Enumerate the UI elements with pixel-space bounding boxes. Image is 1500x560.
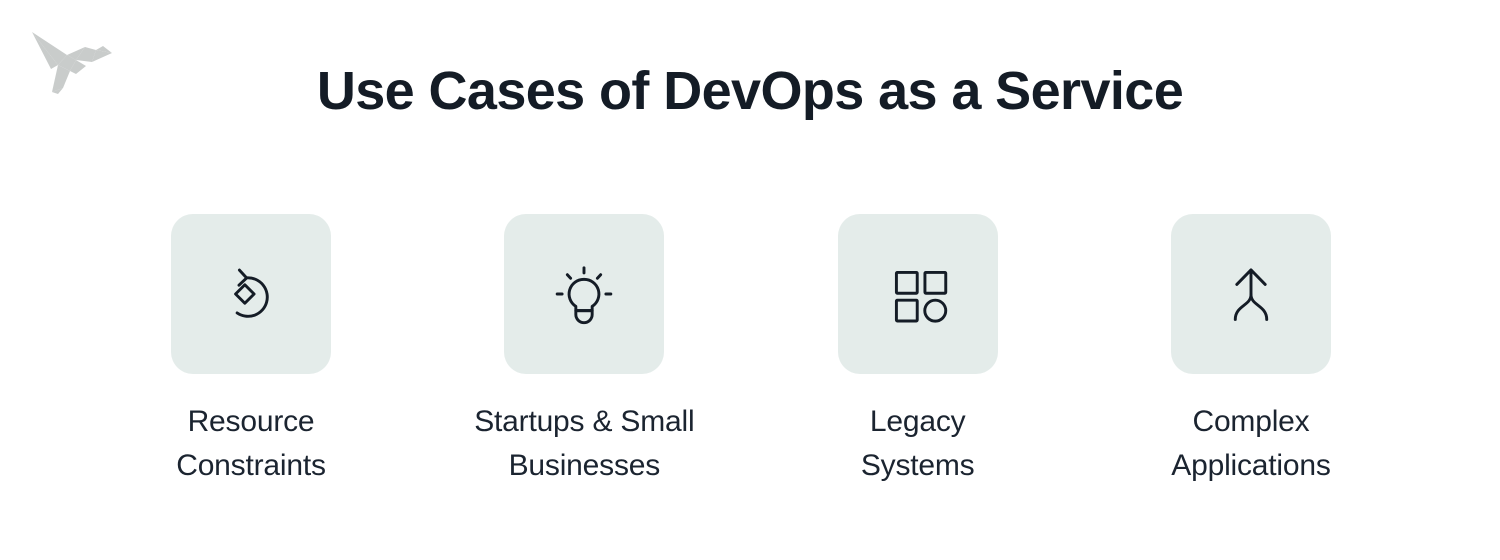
icon-tile (1171, 214, 1331, 374)
label-line-1: Startups & Small (474, 405, 694, 438)
lightbulb-idea-icon (547, 257, 621, 331)
use-case-label: Complex Applications (1086, 400, 1416, 488)
use-case-card-startups-small-businesses[interactable]: Startups & Small Businesses (494, 214, 674, 488)
merge-arrow-icon (1214, 257, 1288, 331)
label-line-1: Legacy (870, 405, 966, 438)
use-case-card-resource-constraints[interactable]: Resource Constraints (161, 214, 341, 488)
icon-tile (504, 214, 664, 374)
icon-tile (171, 214, 331, 374)
label-line-2: Systems (861, 449, 975, 482)
label-line-1: Resource (188, 405, 315, 438)
rotate-diamond-icon (214, 257, 288, 331)
label-line-1: Complex (1192, 405, 1309, 438)
use-case-label: Startups & Small Businesses (419, 400, 749, 488)
icon-tile (838, 214, 998, 374)
use-case-label: Legacy Systems (778, 400, 1058, 488)
use-case-label: Resource Constraints (111, 400, 391, 488)
slide-canvas: Use Cases of DevOps as a Service Resourc… (0, 0, 1500, 560)
use-case-card-complex-applications[interactable]: Complex Applications (1161, 214, 1341, 488)
label-line-2: Businesses (509, 449, 660, 482)
label-line-2: Applications (1171, 449, 1330, 482)
use-case-card-legacy-systems[interactable]: Legacy Systems (828, 214, 1008, 488)
use-cases-row: Resource Constraints Startups & Small (161, 214, 1341, 488)
label-line-2: Constraints (176, 449, 326, 482)
page-title: Use Cases of DevOps as a Service (0, 56, 1500, 126)
grid-modules-icon (881, 257, 955, 331)
